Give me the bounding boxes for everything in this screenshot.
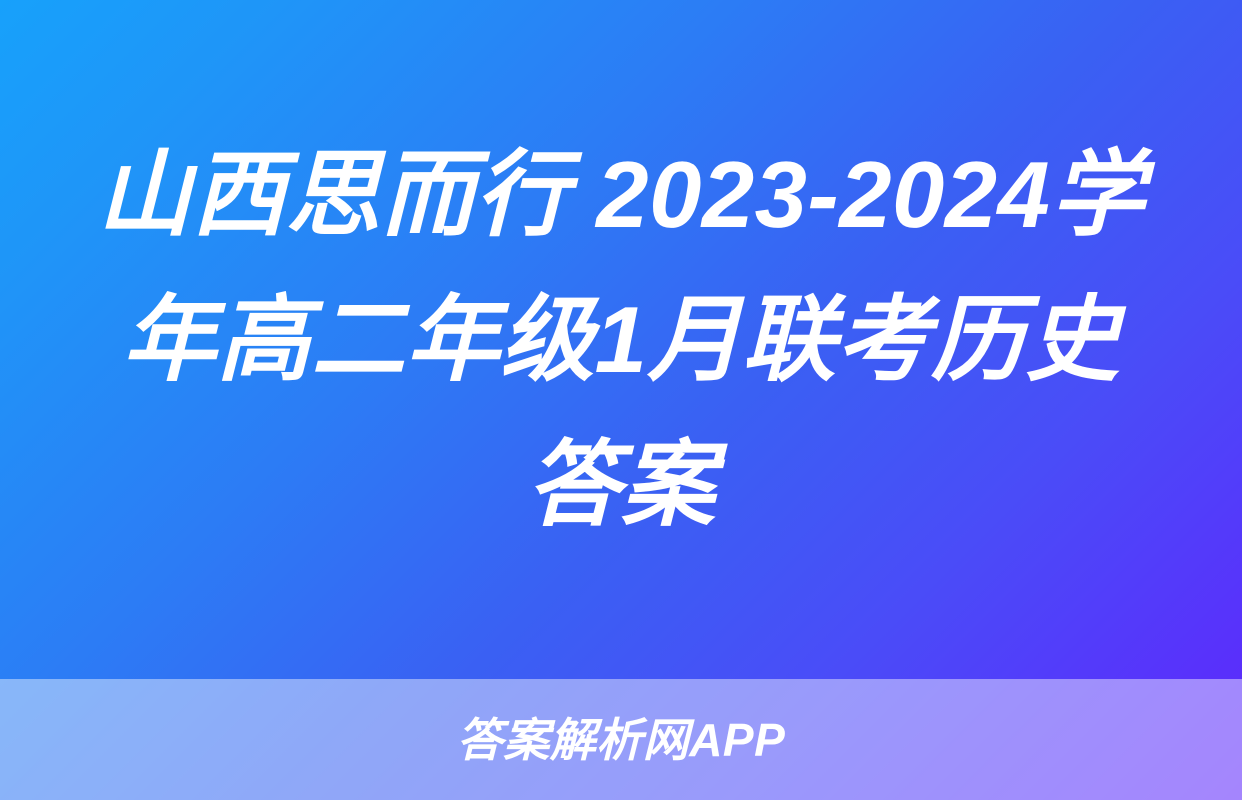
headline-area: 山西思而行 2023-2024学年高二年级1月联考历史答案 [0,0,1242,679]
watermark-label: 答案解析网APP [457,717,786,763]
poster-canvas: 山西思而行 2023-2024学年高二年级1月联考历史答案 答案解析网APP [0,0,1242,800]
page-title: 山西思而行 2023-2024学年高二年级1月联考历史答案 [86,122,1156,557]
watermark-bar: 答案解析网APP [0,679,1242,800]
